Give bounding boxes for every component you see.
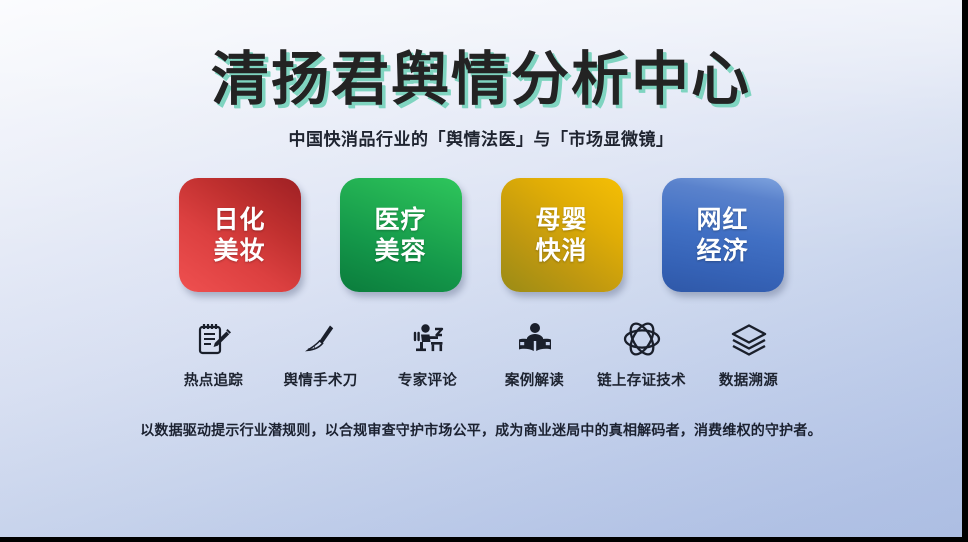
feature-label: 案例解读 <box>505 369 564 390</box>
category-card-line2: 快消 <box>535 235 587 266</box>
category-card-line1: 医疗 <box>374 204 426 235</box>
feature-hotspot-tracking[interactable]: 热点追踪 <box>160 318 267 390</box>
feature-onchain-evidence[interactable]: 链上存证技术 <box>588 318 695 390</box>
bottom-edge-strip <box>0 537 968 542</box>
category-card-maternal-fmcg[interactable]: 母婴 快消 <box>501 178 623 292</box>
feature-expert-commentary[interactable]: 专家评论 <box>374 318 481 390</box>
right-edge-strip <box>962 0 968 542</box>
page-title: 清扬君舆情分析中心 <box>211 48 751 111</box>
category-card-influencer-economy[interactable]: 网红 经济 <box>662 178 784 292</box>
category-card-line1: 日化 <box>213 204 265 235</box>
feature-label: 舆情手术刀 <box>284 369 358 390</box>
poster-root: 清扬君舆情分析中心 中国快消品行业的「舆情法医」与「市场显微镜」 日化 美妆 医… <box>0 0 968 542</box>
poster-canvas: 清扬君舆情分析中心 中国快消品行业的「舆情法医」与「市场显微镜」 日化 美妆 医… <box>0 0 962 537</box>
feature-row: 热点追踪 舆情手术刀 <box>0 318 962 390</box>
category-card-line1: 母婴 <box>535 204 587 235</box>
feature-label: 专家评论 <box>398 369 457 390</box>
category-card-line2: 美妆 <box>213 235 265 266</box>
category-card-line1: 网红 <box>696 204 748 235</box>
category-card-row: 日化 美妆 医疗 美容 母婴 快消 网红 经济 <box>0 178 962 292</box>
category-card-daily-chemical-beauty[interactable]: 日化 美妆 <box>179 178 301 292</box>
person-at-desk-icon <box>409 318 447 360</box>
category-card-line2: 美容 <box>374 235 426 266</box>
scalpel-icon <box>303 318 339 360</box>
category-card-medical-aesthetics[interactable]: 医疗 美容 <box>340 178 462 292</box>
layers-stack-icon <box>729 318 769 360</box>
feature-data-provenance[interactable]: 数据溯源 <box>695 318 802 390</box>
feature-label: 链上存证技术 <box>597 369 686 390</box>
title-block: 清扬君舆情分析中心 中国快消品行业的「舆情法医」与「市场显微镜」 <box>0 0 962 150</box>
feature-case-interpretation[interactable]: 案例解读 <box>481 318 588 390</box>
notepad-pencil-icon <box>196 318 232 360</box>
page-subtitle: 中国快消品行业的「舆情法医」与「市场显微镜」 <box>0 125 962 150</box>
feature-sentiment-scalpel[interactable]: 舆情手术刀 <box>267 318 374 390</box>
category-card-line2: 经济 <box>696 235 748 266</box>
atom-icon <box>622 318 662 360</box>
person-reading-book-icon <box>516 318 554 360</box>
feature-label: 数据溯源 <box>719 369 778 390</box>
feature-label: 热点追踪 <box>184 369 243 390</box>
mission-statement: 以数据驱动提示行业潜规则，以合规审查守护市场公平，成为商业迷局中的真相解码者，消… <box>0 420 962 440</box>
